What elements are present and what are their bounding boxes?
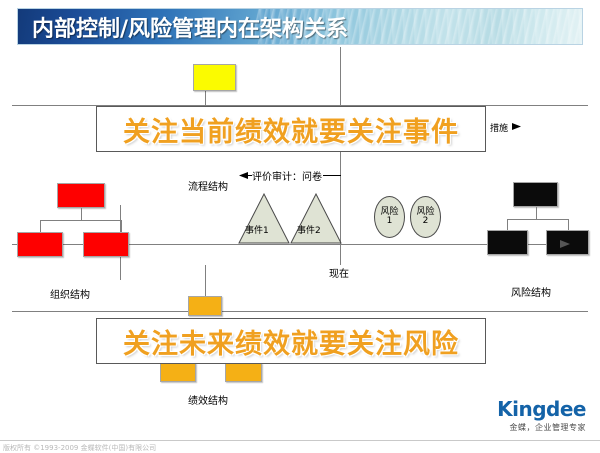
brand-logo: Kingdee 金蝶，企业管理专家 [497,399,586,433]
slide-canvas: 内部控制/风险管理内在架构关系 t 关注当前绩效就要关注事件 措施 评价审计：问… [0,0,600,453]
risk-node-child-1 [487,230,528,255]
event-1-label: 事件1 [245,223,269,236]
brand-name: Kingdee [497,399,586,419]
event-2-label: 事件2 [297,223,321,236]
event-triangle-2 [290,193,342,245]
risk-node-root [513,182,558,207]
event-triangle-1 [238,193,290,245]
connector-yellow-to-headline [205,91,206,106]
performance-node-root [188,296,222,316]
timeline-arrow-icon [560,239,574,250]
footer-divider [0,440,600,441]
performance-node-child-1 [160,363,196,382]
org-connector-left [40,220,41,232]
headline-box-current-performance: 关注当前绩效就要关注事件 [96,106,486,152]
copyright-text: 版权所有 ©1993-2009 金蝶软件(中国)有限公司 [3,443,156,453]
top-yellow-node [193,64,236,91]
org-node-child-2 [83,232,129,257]
org-structure-label: 组织结构 [50,286,90,301]
performance-structure-label: 绩效结构 [188,392,228,407]
measures-arrow-icon [512,122,524,132]
slide-title-banner: 内部控制/风险管理内在架构关系 [17,8,583,45]
headline-box-future-performance: 关注未来绩效就要关注风险 [96,318,486,364]
performance-node-child-2 [225,363,262,382]
headline-current-performance-text: 关注当前绩效就要关注事件 [123,110,459,149]
audit-label: 评价审计：问卷 [252,168,322,183]
org-connector-stem [81,208,82,220]
measures-label: 措施 [490,121,508,134]
audit-line-to-now [323,175,341,176]
risk-connector-bar [507,219,568,220]
risk-ellipse-2: 风险 2 [410,196,441,238]
page-title: 内部控制/风险管理内在架构关系 [32,11,348,43]
now-label: 现在 [329,265,349,280]
brand-tagline: 金蝶，企业管理专家 [497,422,586,433]
org-node-root [57,183,105,208]
guide-line-lower [12,311,588,312]
audit-arrow-icon [238,171,250,181]
risk-structure-label: 风险结构 [511,284,551,299]
process-structure-label: 流程结构 [188,178,228,193]
risk-ellipse-1: 风险 1 [374,196,405,238]
org-node-child-1 [17,232,63,257]
org-connector-bar [40,220,122,221]
risk-connector-stem [536,207,537,219]
risk-1-label-line2: 1 [387,217,393,226]
risk-connector-right [568,219,569,230]
risk-connector-left [507,219,508,230]
risk-2-label-line2: 2 [423,217,429,226]
org-connector-right [121,220,122,232]
headline-future-performance-text: 关注未来绩效就要关注风险 [123,322,459,361]
